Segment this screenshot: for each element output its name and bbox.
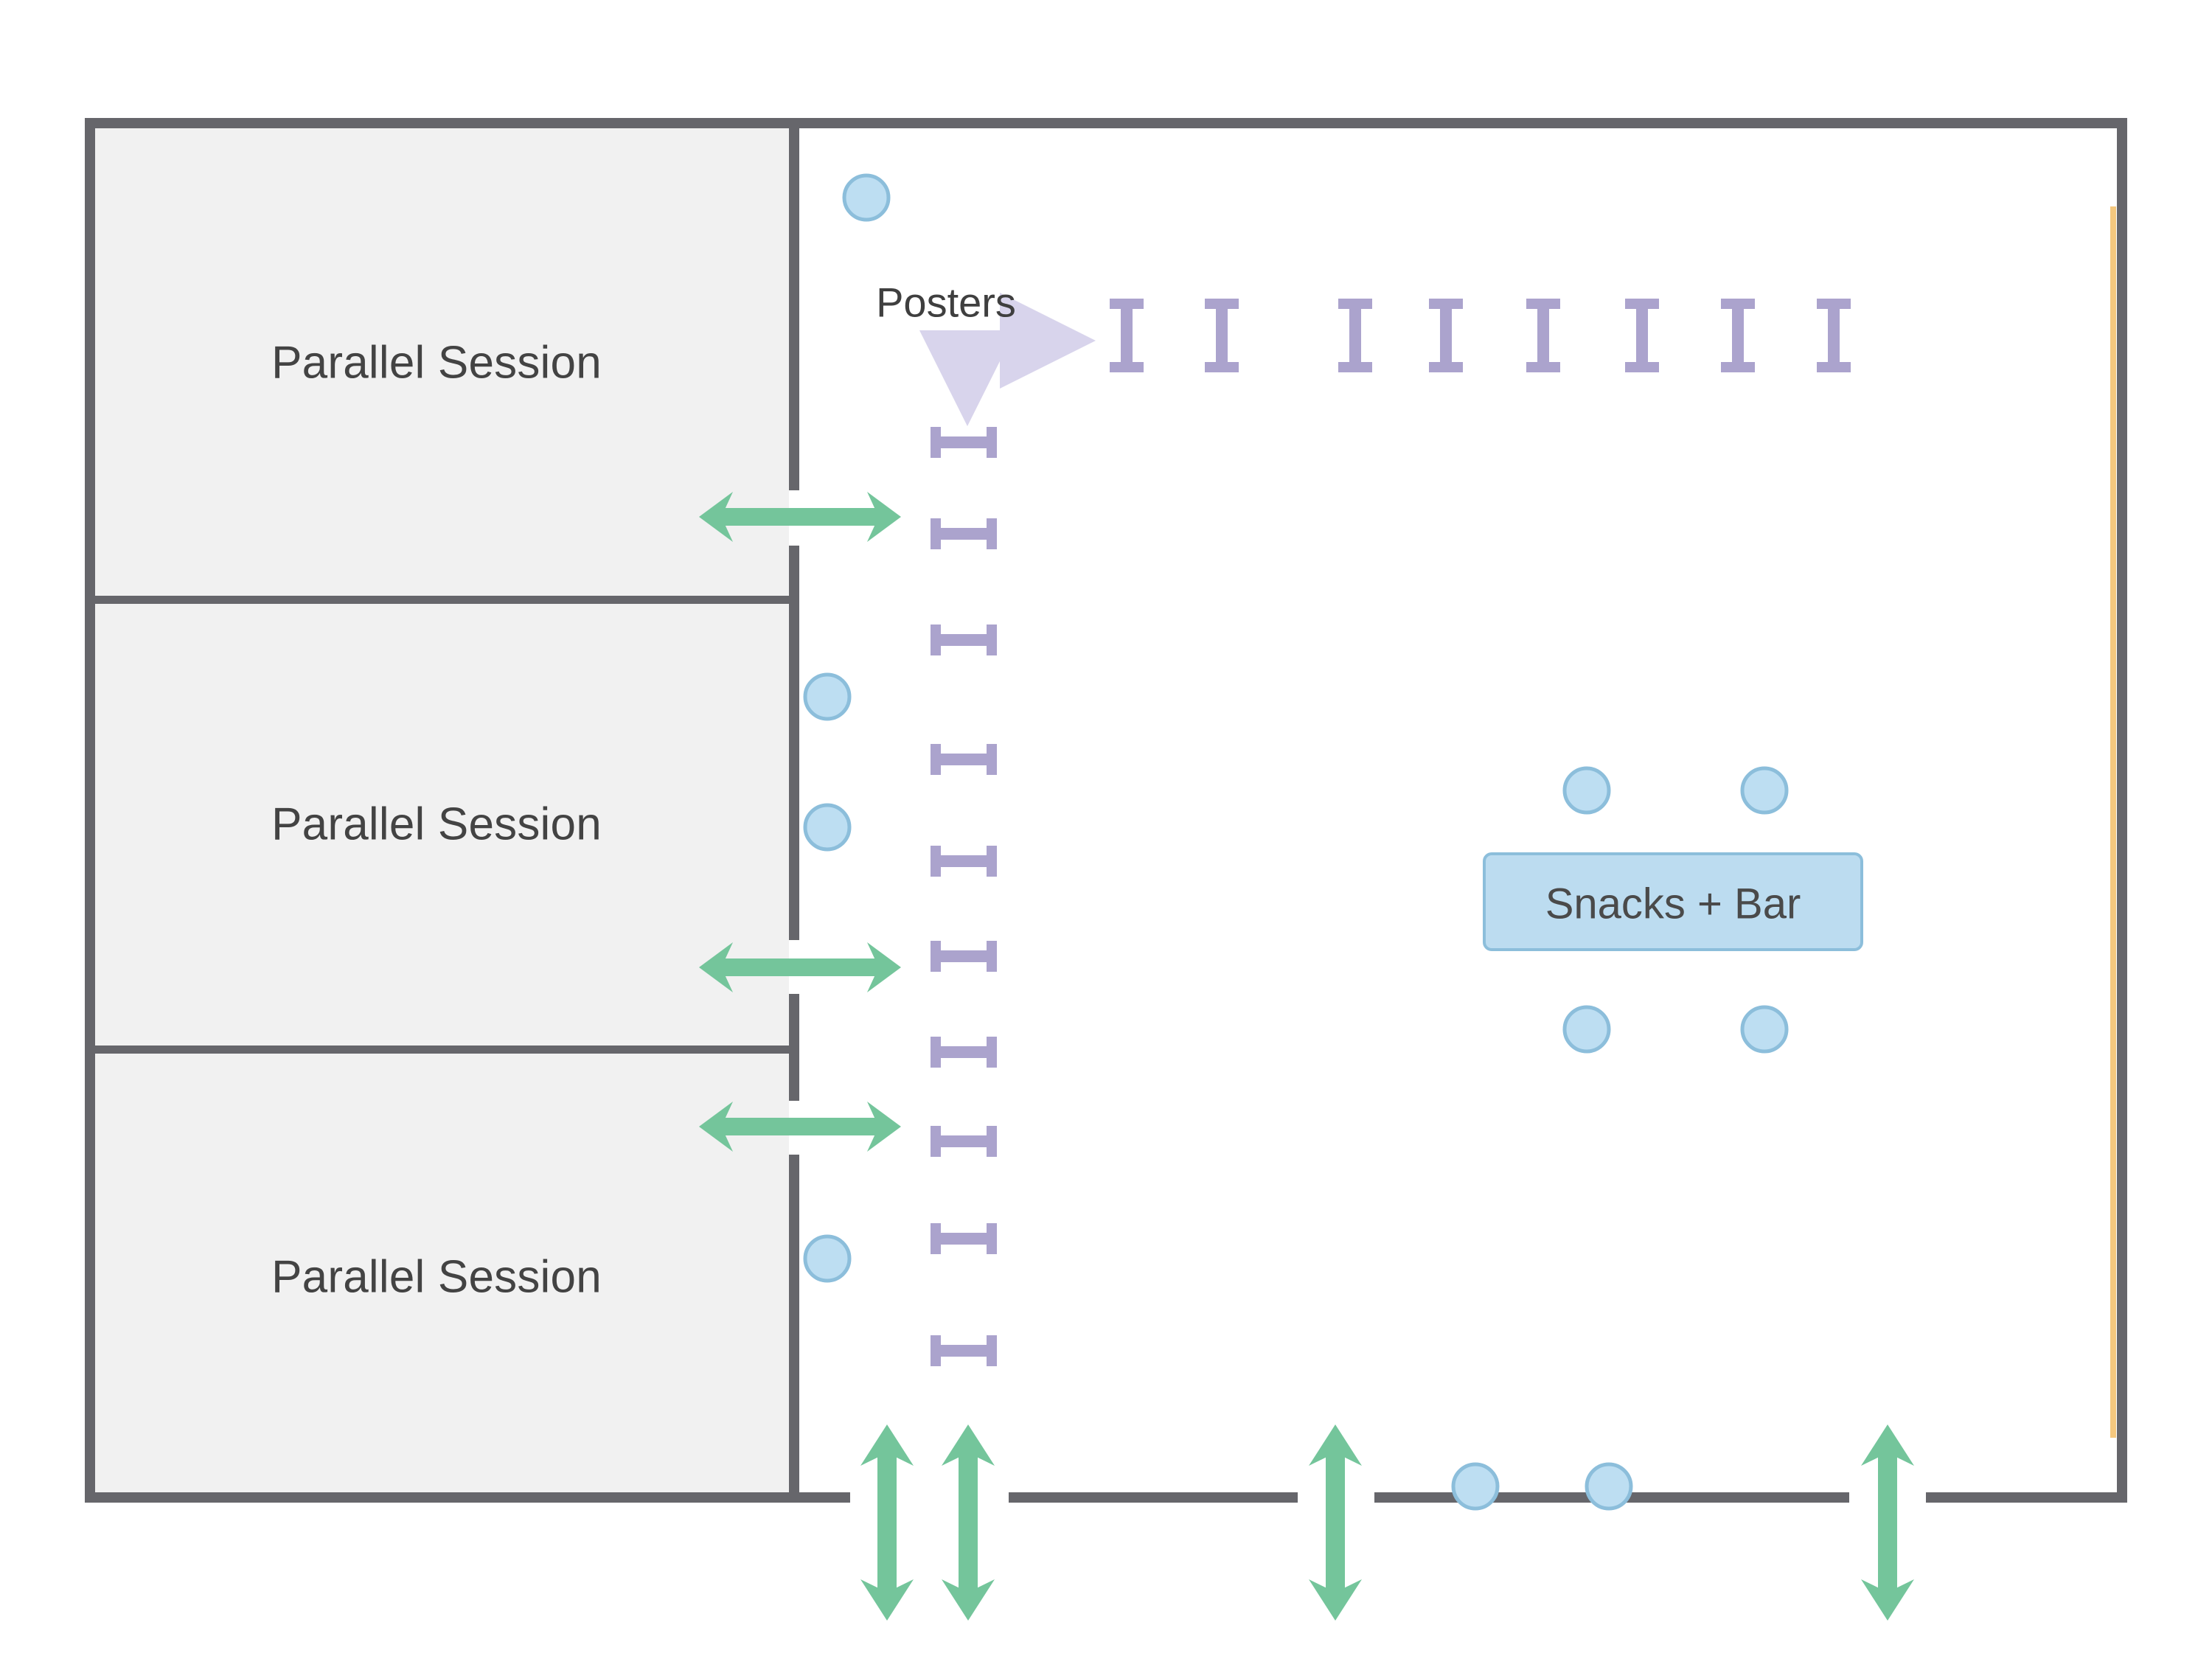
poster-cap-bottom	[1526, 362, 1560, 372]
poster-stem	[1537, 299, 1549, 372]
poster-boards-left-column	[931, 427, 997, 1366]
wall-corridor-seg-1	[789, 118, 799, 490]
poster-cap-right	[987, 846, 997, 877]
poster-cap-bottom	[1205, 362, 1239, 372]
poster-cap-right	[987, 1126, 997, 1157]
wall-left	[85, 118, 95, 1501]
wall-bottom-far-right	[1926, 1492, 2127, 1503]
poster-stem	[1636, 299, 1648, 372]
flow-arrow-door-flow-3	[699, 1102, 901, 1152]
poster-board-top-6	[1625, 299, 1659, 372]
poster-stem	[1440, 299, 1452, 372]
person-circle-4	[805, 1236, 849, 1281]
wall-bottom-middle	[1009, 1492, 1298, 1503]
amenity-label-snacks-bar: Snacks + Bar	[1545, 880, 1801, 929]
person-circle-2	[805, 675, 849, 719]
poster-cap-right	[987, 624, 997, 655]
poster-board-col-7	[931, 1037, 997, 1068]
wall-divider-1	[85, 596, 794, 604]
poster-cap-bottom	[1429, 362, 1463, 372]
person-circle-3	[805, 805, 849, 849]
flow-arrow-door-flow-2	[699, 942, 901, 992]
poster-board-top-8	[1817, 299, 1851, 372]
person-circle-5	[1565, 768, 1609, 813]
poster-cap-bottom	[1625, 362, 1659, 372]
flow-arrow-exit-flow-1	[860, 1424, 914, 1621]
poster-cap-bottom	[1721, 362, 1755, 372]
wall-corridor-seg-4	[789, 1155, 799, 1503]
poster-board-top-5	[1526, 299, 1560, 372]
poster-cap-right	[987, 427, 997, 458]
room-label-session-2: Parallel Session	[271, 799, 602, 851]
poster-stem	[1121, 299, 1133, 372]
poster-board-col-6	[931, 941, 997, 972]
posters-callout-arrow	[967, 341, 1077, 407]
accent-strip-right	[2110, 206, 2116, 1438]
wall-top	[85, 118, 2127, 128]
poster-cap-right	[987, 1037, 997, 1068]
person-circle-1	[844, 175, 888, 220]
person-circle-10	[1587, 1464, 1631, 1509]
poster-stem	[1732, 299, 1744, 372]
poster-board-col-1	[931, 427, 997, 458]
flow-arrow-exit-flow-3	[1309, 1424, 1362, 1621]
poster-cap-right	[987, 1223, 997, 1254]
poster-board-top-1	[1110, 299, 1144, 372]
person-circle-7	[1565, 1007, 1609, 1051]
poster-cap-bottom	[1338, 362, 1372, 372]
poster-stem	[1216, 299, 1228, 372]
room-label-session-1: Parallel Session	[271, 337, 602, 389]
person-circle-6	[1742, 768, 1787, 813]
person-circle-9	[1453, 1464, 1498, 1509]
poster-board-col-3	[931, 624, 997, 655]
vertical-flow-arrows-group	[860, 1424, 1914, 1621]
people-circles-group	[805, 175, 1787, 1509]
poster-board-col-2	[931, 518, 997, 549]
poster-cap-right	[987, 1335, 997, 1366]
wall-bottom-left	[85, 1492, 850, 1503]
poster-boards-top-row	[1110, 299, 1851, 372]
room-label-session-3: Parallel Session	[271, 1251, 602, 1304]
poster-cap-bottom	[1817, 362, 1851, 372]
poster-board-top-7	[1721, 299, 1755, 372]
poster-cap-right	[987, 518, 997, 549]
wall-right	[2117, 118, 2127, 1501]
flow-arrow-exit-flow-4	[1861, 1424, 1914, 1621]
poster-board-col-10	[931, 1335, 997, 1366]
poster-board-col-8	[931, 1126, 997, 1157]
wall-divider-2	[85, 1046, 794, 1054]
flow-arrow-door-flow-1	[699, 492, 901, 542]
poster-board-col-9	[931, 1223, 997, 1254]
poster-cap-bottom	[1110, 362, 1144, 372]
poster-stem	[1828, 299, 1840, 372]
poster-board-top-2	[1205, 299, 1239, 372]
poster-board-col-4	[931, 744, 997, 775]
poster-stem	[1349, 299, 1361, 372]
poster-cap-right	[987, 744, 997, 775]
poster-cap-right	[987, 941, 997, 972]
poster-board-top-3	[1338, 299, 1372, 372]
annotation-label-posters: Posters	[876, 279, 1016, 327]
poster-board-col-5	[931, 846, 997, 877]
flow-arrow-exit-flow-2	[942, 1424, 995, 1621]
poster-board-top-4	[1429, 299, 1463, 372]
person-circle-8	[1742, 1007, 1787, 1051]
floorplan-canvas: Parallel SessionParallel SessionParallel…	[0, 0, 2212, 1670]
wall-corridor-seg-2	[789, 546, 799, 940]
